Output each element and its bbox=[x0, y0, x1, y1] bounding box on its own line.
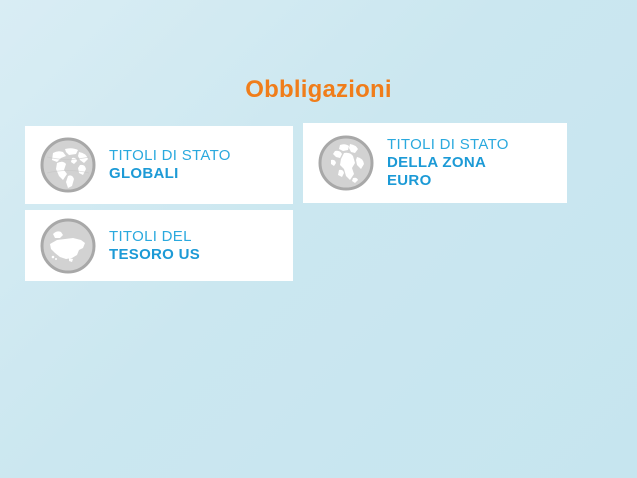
card-line-1: TITOLI DI STATO bbox=[109, 147, 231, 165]
card-line-2: TESORO US bbox=[109, 246, 200, 264]
card-line-1: TITOLI DI STATO bbox=[387, 136, 509, 154]
card-line-3: EURO bbox=[387, 172, 509, 190]
map-usa-icon bbox=[39, 217, 97, 275]
card-label-group: TITOLI DEL TESORO US bbox=[109, 228, 200, 263]
card-label-group: TITOLI DI STATO GLOBALI bbox=[109, 147, 231, 182]
card-titoli-di-stato-globali[interactable]: TITOLI DI STATO GLOBALI bbox=[25, 126, 293, 204]
globe-americas-icon bbox=[39, 136, 97, 194]
card-line-2: GLOBALI bbox=[109, 165, 231, 183]
slide-canvas: Obbligazioni TITOLI DI STATO G bbox=[0, 0, 637, 478]
card-line-2: DELLA ZONA bbox=[387, 154, 509, 172]
globe-europe-icon bbox=[317, 134, 375, 192]
card-titoli-di-stato-della-zona-euro[interactable]: TITOLI DI STATO DELLA ZONA EURO bbox=[303, 123, 567, 203]
card-label-group: TITOLI DI STATO DELLA ZONA EURO bbox=[387, 136, 509, 189]
card-titoli-del-tesoro-us[interactable]: TITOLI DEL TESORO US bbox=[25, 210, 293, 281]
card-line-1: TITOLI DEL bbox=[109, 228, 200, 246]
page-title: Obbligazioni bbox=[0, 76, 637, 104]
